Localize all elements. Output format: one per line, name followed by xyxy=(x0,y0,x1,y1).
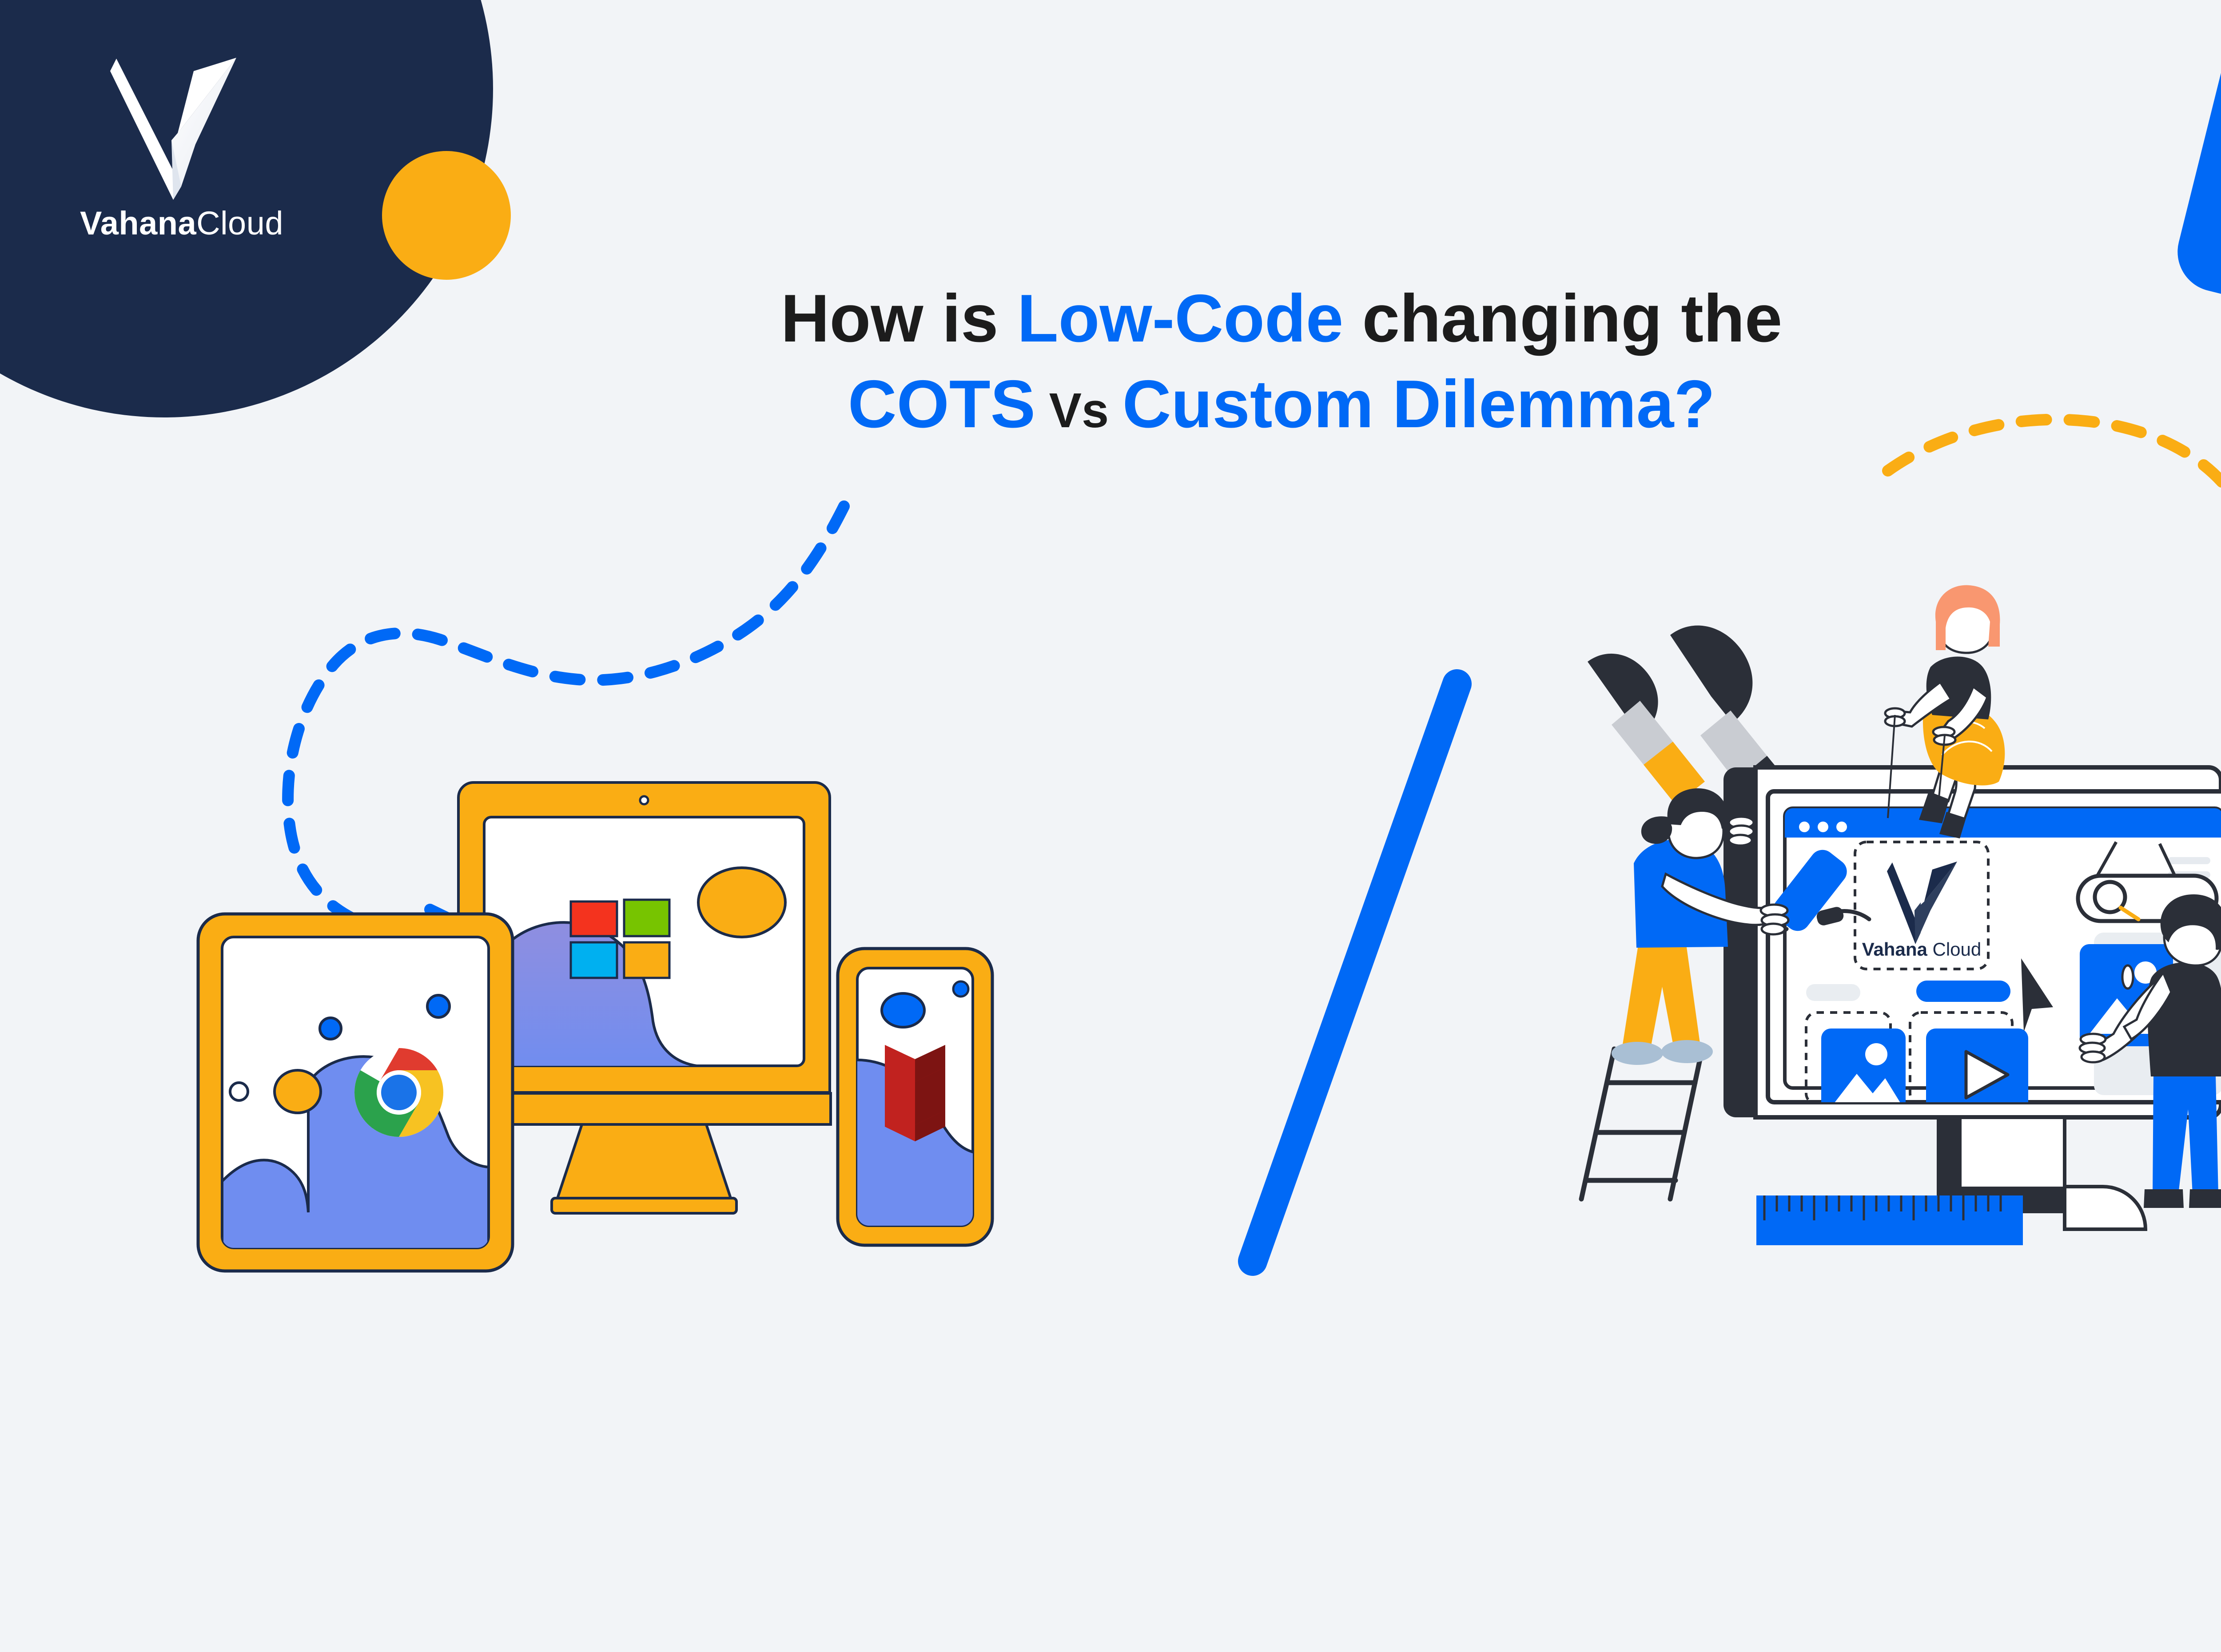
headline-text-how-is: How is xyxy=(781,281,1017,356)
headline-accent-custom-dilemma: Custom Dilemma? xyxy=(1122,366,1715,442)
chrome-logo-icon xyxy=(354,1048,443,1137)
browser-dot xyxy=(1836,822,1847,832)
device-smartphone xyxy=(838,949,992,1245)
ruler-icon xyxy=(1756,1195,2023,1245)
device-tablet xyxy=(198,914,513,1271)
browser-dot xyxy=(1799,822,1810,832)
pill-grey xyxy=(1806,984,1860,1001)
brand-lockup: VahanaCloud xyxy=(80,53,311,240)
pill-blue xyxy=(1916,981,2010,1002)
page-title: How is Low-Code changing the COTS Vs Cus… xyxy=(631,284,1932,439)
decor-top-right-blue-card xyxy=(2169,0,2221,370)
ladder-icon xyxy=(1581,1049,1702,1199)
headline-accent-low-code: Low-Code xyxy=(1017,281,1344,356)
brand-name-light: Cloud xyxy=(196,205,283,242)
brand-name: VahanaCloud xyxy=(80,207,311,240)
divider-slash-icon xyxy=(1190,657,1493,1288)
vahana-v-mark-icon xyxy=(107,53,240,200)
cots-devices-illustration xyxy=(191,773,1133,1297)
headline-accent-cots: COTS xyxy=(848,366,1035,442)
headline-line-1: How is Low-Code changing the xyxy=(631,284,1932,353)
headline-text-changing-the: changing the xyxy=(1343,281,1782,356)
browser-dot xyxy=(1818,822,1828,832)
browser-logo-caption: Vahana Cloud xyxy=(1862,939,1982,960)
headline-text-vs: Vs xyxy=(1035,383,1122,438)
poster-canvas: VahanaCloud How is Low-Code changing the… xyxy=(0,0,2221,1439)
custom-build-illustration: Vahana Cloud xyxy=(1581,626,2221,1306)
paintbrush-icon xyxy=(1588,654,1705,805)
headline-line-2: COTS Vs Custom Dilemma? xyxy=(631,370,1932,439)
brand-name-bold: Vahana xyxy=(80,205,196,242)
decor-brand-orange-dot xyxy=(382,151,511,280)
mcafee-logo-icon xyxy=(885,1045,945,1141)
